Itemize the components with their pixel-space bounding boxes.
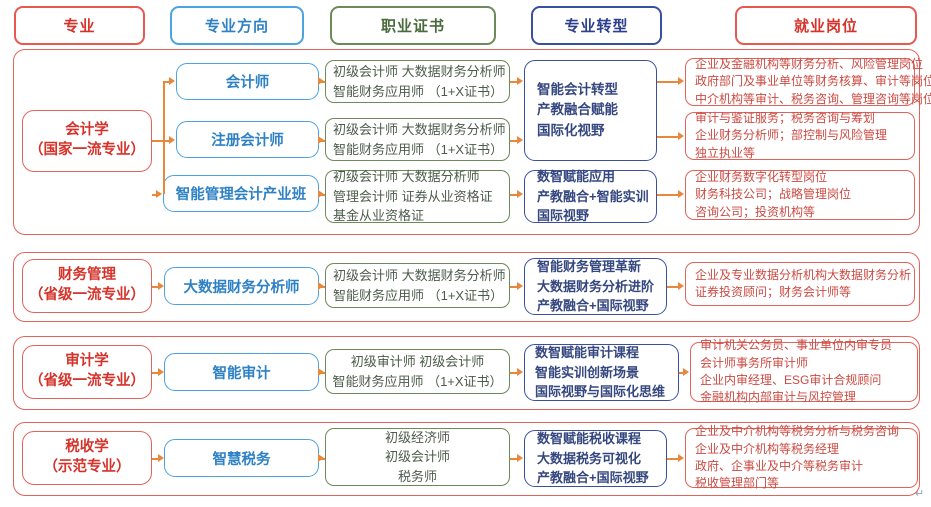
arrow-dir-cert-tx [318, 454, 324, 462]
arrow-cert-trans-tx [517, 454, 523, 462]
jobs-box-smart-tax[interactable]: 企业及中介机构等税务分析与税务咨询 企业及中介机构等税务经理 政府、企事业及中介… [685, 428, 918, 488]
direction-label: 智能审计 [213, 362, 271, 383]
arrow-cert-trans-fm [517, 282, 523, 290]
major-subtitle: （省级一流专业） [29, 286, 145, 306]
arrow-to-cpa [169, 136, 175, 144]
transform-line: 智能财务管理革新 [537, 257, 641, 277]
arrow-trans-job-fm [678, 282, 684, 290]
connector-trans-job-1 [657, 81, 679, 83]
job-line: 企业财务数字化转型岗位 [695, 169, 827, 186]
major-subtitle: （国家一流专业） [29, 141, 145, 161]
header-pill-major: 专业 [14, 6, 145, 45]
major-box-taxation[interactable]: 税收学 （示范专业） [22, 431, 152, 485]
jobs-box-bigdata-analyst[interactable]: 企业及专业数据分析机构大数据财务分析 证券投资顾问；财务会计师等 [685, 262, 915, 306]
jobs-box-smart-mgmt-class[interactable]: 企业财务数字化转型岗位 财务科技公司；战略管理岗位 咨询公司；投资机构等 [685, 170, 915, 220]
transform-line: 智能会计转型 [537, 80, 618, 100]
arrow-cert-trans-au [517, 368, 523, 376]
cert-line: 智能财务应用师 （1+X证书） [333, 286, 503, 306]
header-label: 就业岗位 [794, 15, 858, 36]
direction-box-smart-tax[interactable]: 智慧税务 [164, 439, 319, 477]
transform-line: 国际视野与国际化思维 [535, 382, 665, 402]
paragraph-mark: ↵ [915, 487, 924, 500]
transform-line: 智能实训创新场景 [535, 363, 639, 383]
direction-box-bigdata-analyst[interactable]: 大数据财务分析师 [164, 267, 319, 305]
certificate-box-accountant[interactable]: 初级会计师 大数据财务分析师 智能财务应用师 （1+X证书） [325, 60, 510, 103]
cert-line: 初级审计师 初级会计师 [351, 352, 485, 372]
transform-line: 产教融合+国际视野 [537, 296, 649, 316]
certificate-box-smart-mgmt-class[interactable]: 初级会计师 大数据分析师 管理会计师 证券从业资格证 基金从业资格证 [325, 170, 510, 223]
arrow-trans-job-3 [678, 190, 684, 198]
arrow-cert-trans-2 [517, 136, 523, 144]
transform-line: 大数据税务可视化 [537, 449, 641, 469]
major-box-financial-mgmt[interactable]: 财务管理 （省级一流专业） [22, 259, 152, 313]
direction-box-smart-audit[interactable]: 智能审计 [164, 353, 319, 391]
job-line: 会计师事务所审计师 [700, 355, 808, 372]
cert-line: 税务师 [398, 467, 437, 487]
arrow-major-dir-fm [158, 282, 164, 290]
certificate-box-bigdata-analyst[interactable]: 初级会计师 大数据财务分析师 智能财务应用师 （1+X证书） [325, 263, 510, 308]
connector-trans-job-3 [657, 194, 679, 196]
certificate-box-cpa[interactable]: 初级会计师 大数据财务分析师 智能财务应用师 （1+X证书） [325, 118, 510, 161]
certificate-box-smart-tax[interactable]: 初级经济师 初级会计师 税务师 [325, 428, 510, 486]
jobs-box-smart-audit[interactable]: 审计机关公务员、事业单位内审专员 会计师事务所审计师 企业内审经理、ESG审计合… [690, 342, 918, 402]
cert-line: 初级会计师 [385, 447, 450, 467]
transform-line: 国际化视野 [537, 121, 605, 141]
cert-line: 初级经济师 [385, 428, 450, 448]
major-name: 审计学 [65, 352, 109, 372]
transform-box-bigdata-analyst[interactable]: 智能财务管理革新 大数据财务分析进阶 产教融合+国际视野 [524, 258, 667, 315]
arrow-major-dir-tx [158, 454, 164, 462]
arrow-dir-cert-2 [318, 136, 324, 144]
major-subtitle: （省级一流专业） [29, 372, 145, 392]
job-line: 政府部门及事业单位等财务核算、审计等岗位 [695, 73, 931, 90]
direction-label: 智慧税务 [213, 448, 271, 469]
major-subtitle: （示范专业） [44, 458, 131, 478]
transform-line: 产教融合+智能实训 [537, 187, 649, 207]
arrow-major-dir-au [158, 368, 164, 376]
connector-vertical-trunk [163, 81, 165, 194]
arrow-to-smart-class [156, 190, 162, 198]
arrow-cert-trans-3 [517, 190, 523, 198]
transform-line: 大数据财务分析进阶 [537, 277, 654, 297]
connector-trans-job-2 [657, 136, 679, 138]
job-line: 证券投资顾问；财务会计师等 [695, 284, 851, 301]
job-line: 财务科技公司；战略管理岗位 [695, 186, 851, 203]
arrow-to-accountant [169, 77, 175, 85]
job-line: 审计机关公务员、事业单位内审专员 [700, 337, 892, 354]
arrow-trans-job-2 [678, 132, 684, 140]
major-box-audit[interactable]: 审计学 （省级一流专业） [22, 345, 152, 399]
transform-line: 产教融合+国际视野 [537, 468, 649, 488]
job-line: 中介机构等审计、税务咨询、管理咨询等岗位 [695, 91, 931, 108]
jobs-box-accountant[interactable]: 企业及金融机构等财务分析、风险管理岗位 政府部门及事业单位等财务核算、审计等岗位… [685, 58, 915, 106]
header-label: 专业 [63, 15, 95, 36]
header-pill-jobs: 就业岗位 [735, 6, 917, 45]
direction-box-accountant[interactable]: 会计师 [176, 63, 319, 100]
arrow-dir-cert-au [318, 368, 324, 376]
cert-line: 基金从业资格证 [333, 206, 424, 226]
major-name: 财务管理 [58, 266, 116, 286]
cert-line: 智能财务应用师 （1+X证书） [333, 140, 503, 160]
header-label: 专业转型 [564, 15, 628, 36]
diagram-canvas: 专业 专业方向 职业证书 专业转型 就业岗位 会计学 （国家一流专业） 会计师 … [0, 0, 931, 507]
job-line: 企业及金融机构等财务分析、风险管理岗位 [695, 56, 923, 73]
cert-line: 初级会计师 大数据财务分析师 [333, 120, 506, 140]
transform-box-smart-mgmt-class[interactable]: 数智赋能应用 产教融合+智能实训 国际视野 [524, 170, 657, 223]
major-name: 税收学 [65, 438, 109, 458]
header-label: 专业方向 [205, 15, 269, 36]
cert-line: 初级会计师 大数据财务分析师 [333, 266, 506, 286]
transform-line: 数智赋能应用 [537, 167, 615, 187]
transform-box-accounting-shared[interactable]: 智能会计转型 产教融合赋能 国际化视野 [524, 60, 657, 161]
header-pill-certificate: 职业证书 [330, 6, 496, 45]
direction-label: 会计师 [226, 71, 270, 92]
arrow-dir-cert-1 [318, 77, 324, 85]
job-line: 税收管理部门等 [695, 475, 779, 492]
direction-label: 智能管理会计产业班 [176, 183, 307, 204]
transform-line: 产教融合赋能 [537, 100, 618, 120]
job-line: 政府、企事业及中介等税务审计 [695, 458, 863, 475]
major-box-accounting[interactable]: 会计学 （国家一流专业） [22, 110, 152, 172]
transform-line: 国际视野 [537, 206, 589, 226]
job-line: 企业及中介机构等税务经理 [695, 441, 839, 458]
cert-line: 管理会计师 证券从业资格证 [333, 187, 493, 207]
header-label: 职业证书 [381, 15, 445, 36]
transform-box-smart-audit[interactable]: 数智赋能审计课程 智能实训创新场景 国际视野与国际化思维 [524, 344, 679, 401]
jobs-box-cpa[interactable]: 审计与鉴证服务；税务咨询与筹划 企业财务分析师；部控制与风险管理 独立执业等 [685, 112, 915, 160]
job-line: 金融机构内部审计与风控管理 [700, 389, 856, 406]
cert-line: 初级会计师 大数据财务分析师 [333, 62, 506, 82]
transform-line: 数智赋能税收课程 [537, 429, 641, 449]
job-line: 审计与鉴证服务；税务咨询与筹划 [695, 110, 875, 127]
arrow-trans-job-tx [678, 454, 684, 462]
job-line: 企业财务分析师；部控制与风险管理 [695, 127, 887, 144]
job-line: 企业及中介机构等税务分析与税务咨询 [695, 423, 899, 440]
certificate-box-smart-audit[interactable]: 初级审计师 初级会计师 智能财务应用师 （1+X证书） [325, 349, 510, 394]
cert-line: 智能财务应用师 （1+X证书） [332, 372, 502, 392]
header-pill-transform: 专业转型 [531, 6, 662, 45]
cert-line: 初级会计师 大数据分析师 [333, 167, 480, 187]
cert-line: 智能财务应用师 （1+X证书） [333, 82, 503, 102]
arrow-cert-trans-1 [517, 77, 523, 85]
direction-box-smart-mgmt-class[interactable]: 智能管理会计产业班 [163, 175, 319, 212]
arrow-dir-cert-fm [318, 282, 324, 290]
major-name: 会计学 [65, 121, 109, 141]
job-line: 独立执业等 [695, 145, 755, 162]
direction-box-cpa[interactable]: 注册会计师 [176, 121, 319, 158]
arrow-trans-job-au [683, 368, 689, 376]
arrow-dir-cert-3 [318, 190, 324, 198]
job-line: 企业及专业数据分析机构大数据财务分析 [695, 267, 911, 284]
transform-box-smart-tax[interactable]: 数智赋能税收课程 大数据税务可视化 产教融合+国际视野 [524, 430, 667, 487]
header-pill-direction: 专业方向 [170, 6, 304, 45]
arrow-trans-job-1 [678, 77, 684, 85]
direction-label: 大数据财务分析师 [184, 276, 300, 297]
direction-label: 注册会计师 [211, 129, 284, 150]
transform-line: 数智赋能审计课程 [535, 343, 639, 363]
job-line: 咨询公司；投资机构等 [695, 204, 815, 221]
job-line: 企业内审经理、ESG审计合规顾问 [700, 372, 881, 389]
